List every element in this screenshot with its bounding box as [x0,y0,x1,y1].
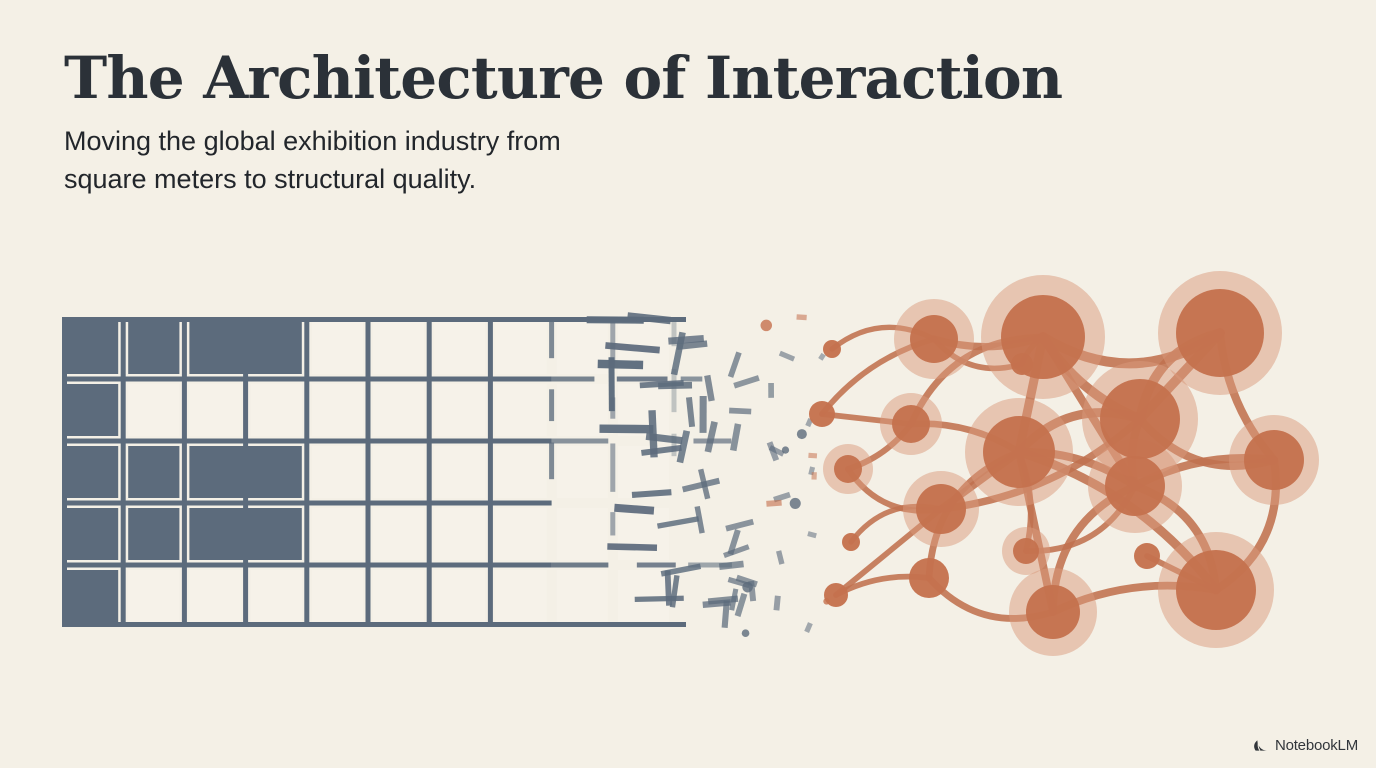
network-edge [929,578,1053,618]
debris-fragment [728,577,750,588]
network-node-halo [880,393,942,455]
network-edge [1140,419,1274,466]
debris-fragment [668,335,704,345]
network-node-halo [1229,415,1319,505]
debris-speck [761,320,773,332]
grid-line-horizontal-fragment [693,439,731,444]
network-node-halo [903,471,979,547]
grid-line-vertical [243,317,248,627]
debris-fragment [671,332,686,376]
debris-fragment [722,601,730,628]
debris-fragment [661,563,701,576]
grid-cell-empty [618,322,669,374]
page-subtitle: Moving the global exhibition industry fr… [64,123,824,198]
debris-fragment [698,469,710,500]
debris-fragment [805,418,813,427]
network-node-halo [1088,439,1182,533]
network-edge [1019,337,1043,452]
grid-cell-empty [251,384,302,436]
network-edge [911,337,1043,424]
network-node [892,405,930,443]
grid-cell-empty [373,384,424,436]
debris-fragment [657,516,699,529]
debris-fragment [670,575,680,608]
debris-fragment [733,375,760,388]
debris-fragment [818,353,826,361]
debris-fragment [702,599,731,608]
network-edge [1019,452,1053,612]
grid-cell-empty [434,446,485,498]
network-node [834,455,862,483]
debris-fragment [677,340,708,350]
grid-line-vertical-fragment [610,512,615,535]
network-node [1011,353,1033,375]
network-node [1001,295,1085,379]
grid-cell-empty [373,446,424,498]
header-block: The Architecture of Interaction Moving t… [64,48,1184,198]
network-edge [934,339,1022,368]
grid-cell-empty [557,570,608,622]
network-node-halo [1002,527,1050,575]
network-nodes [809,289,1304,639]
grid-cell-filled [67,446,118,498]
grid-cell-filled [67,322,118,374]
network-edge [911,424,1019,452]
debris-fragment [729,588,738,610]
grid-line-vertical-fragment [610,397,615,418]
grid-cell-empty [312,322,363,374]
network-edge [1043,337,1135,486]
debris-fragment [804,622,813,633]
grid-cell-empty [434,384,485,436]
grid-line-vertical-fragment [672,434,677,456]
grid-line-horizontal-fragment [552,377,595,382]
debris-fragment [705,421,718,453]
debris-speck [790,498,801,509]
debris-fragment [640,380,684,388]
grid-cell-empty [312,508,363,560]
grid-line-horizontal [62,501,552,506]
grid-frame-left [62,317,67,627]
grid-cell-filled [189,508,301,560]
debris-fragment [599,424,653,433]
grid-line-vertical-fragment [672,321,677,346]
network-node-halo [1009,568,1097,656]
debris-fragment [719,561,744,570]
network-node [1100,379,1180,459]
network-edge [1043,337,1140,419]
debris-fragment [686,397,695,427]
grid-cell-empty [128,384,179,436]
debris-fragment [632,489,672,498]
network-edge [1140,333,1220,419]
grid-line-horizontal-fragment [688,563,732,568]
network-edge [822,339,934,414]
debris-fragment [695,506,705,534]
debris-fragment [658,382,692,389]
network-node-halos [823,271,1319,656]
grid-cell-empty [495,384,546,436]
network-node-halo [1158,271,1282,395]
network-edge [1135,486,1216,590]
network-edge [941,452,1019,509]
debris-fragment [682,478,720,493]
debris-fragment [766,500,782,507]
network-node [824,583,848,607]
debris-fragment [704,375,715,402]
debris-fragment [723,544,750,558]
grid-frame-bottom [62,622,686,627]
grid-line-vertical-fragment [549,389,554,421]
network-node-halo [823,444,873,494]
network-edge [929,452,1019,578]
grid-cell-empty [189,570,240,622]
debris-fragment [635,596,684,602]
network-edge [836,509,941,595]
network-edge [1135,458,1274,486]
debris-fragment [648,410,657,457]
grid-line-horizontal-fragment [617,377,668,382]
debris-fragment [773,492,791,503]
network-edge [1026,486,1135,551]
network-node [823,340,841,358]
grid-line-horizontal-fragment [637,563,676,568]
debris-fragment [708,596,738,605]
notebooklm-spiral-icon [1252,737,1269,754]
grid-line-horizontal-fragment [552,563,609,568]
grid-cell-empty [312,384,363,436]
grid-cell-filled [128,322,179,374]
grid-cell-empty [495,322,546,374]
network-edge [1220,333,1274,460]
debris-fragment [730,423,741,451]
grid-cell-empty [557,384,608,436]
network-edge [1216,460,1276,590]
network-node [1026,585,1080,639]
grid-line-vertical-fragment [672,369,677,412]
network-node [983,416,1055,488]
grid-cell-filled [67,384,118,436]
debris-fragment [665,570,672,606]
grid-disintegration-debris [587,312,830,637]
network-node [910,315,958,363]
network-edge [934,337,1043,347]
network-node [1176,289,1264,377]
grid-line-vertical-fragment [610,443,615,491]
debris-speck [823,598,830,605]
slide-canvas: The Architecture of Interaction Moving t… [0,0,1376,768]
debris-fragment [769,445,785,456]
debris-fragment [767,441,779,461]
network-node [1134,543,1160,569]
debris-fragment [587,316,644,323]
debris-fragment [811,472,816,480]
network-node [1105,456,1165,516]
grid-line-vertical-fragment [610,321,615,367]
debris-fragment [627,312,671,324]
debris-fragment [748,581,756,602]
grid-line-horizontal [62,439,552,444]
network-edge [1019,452,1135,486]
debris-speck [782,446,789,453]
network-edge [1019,452,1216,590]
network-node [916,484,966,534]
network-edge [848,469,941,511]
network-node [842,533,860,551]
brand-footer: NotebookLM [1252,737,1358,754]
grid-line-horizontal [62,563,552,568]
debris-fragment [779,351,795,362]
grid-cell-empty [495,446,546,498]
grid-line-vertical-fragment [549,321,554,358]
grid-frame-top [62,317,686,322]
debris-fragment [607,543,657,551]
grid-cell-empty [495,508,546,560]
network-edge [1053,586,1216,612]
network-edge [1147,556,1216,590]
debris-fragment [776,550,784,565]
debris-speck [742,629,750,637]
debris-fragment [768,383,774,398]
network-node [809,401,835,427]
network-node-halo [1158,532,1274,648]
debris-fragment [727,529,740,555]
debris-fragment [728,352,742,378]
grid-line-vertical [366,317,371,627]
network-edge [836,577,929,595]
grid-cell-empty [557,322,608,374]
grid-cell-empty [434,508,485,560]
grid-line-horizontal-fragment [552,439,609,444]
network-node [1013,538,1039,564]
grid-line-vertical [488,317,493,627]
grid-line-vertical-fragment [549,443,554,480]
grid-cell-empty [495,570,546,622]
network-node-halo [981,275,1105,399]
grid-cell-empty [189,384,240,436]
network-edge [1019,413,1140,452]
network-edge [822,414,911,424]
network-edge [832,327,934,349]
grid-cell-filled [189,446,301,498]
grid-cell-empty [373,508,424,560]
grid-line-vertical [121,317,126,627]
grid-line-vertical [304,317,309,627]
grid-line-horizontal-fragment [681,377,703,382]
grid-cell-empty [618,446,669,498]
grid-cell-empty [312,446,363,498]
debris-fragment [729,408,751,415]
grid-line-vertical [427,317,432,627]
debris-fragment [598,360,644,370]
network-edge [1022,337,1043,364]
debris-fragment [700,396,707,433]
debris-fragment [646,433,683,444]
debris-speck [742,582,753,593]
grid-cell-filled [189,322,301,374]
debris-fragment [609,357,615,411]
grid-cell-empty [434,322,485,374]
network-node [1244,430,1304,490]
network-edge [1132,419,1140,486]
network-edge [1019,452,1031,551]
network-edge [941,419,1140,509]
grid-cell-empty [434,570,485,622]
debris-fragment [677,430,690,463]
debris-fragment [641,445,682,456]
debris-fragment [807,531,817,538]
grid-cell-empty [557,508,608,560]
network-edge [851,506,941,542]
debris-fragment [808,466,815,475]
grid-cell-filled [128,508,179,560]
page-title: The Architecture of Interaction [64,48,1184,109]
debris-fragment [808,453,817,459]
grid-cell-empty [373,322,424,374]
grid-cell-empty [251,570,302,622]
network-edge [1053,486,1135,612]
brand-label: NotebookLM [1275,737,1358,754]
debris-fragment [605,342,660,353]
grid-line-horizontal [62,377,552,382]
grid-cell-empty [373,570,424,622]
grid-cell-empty [618,508,669,560]
grid-cell-empty [618,384,669,436]
network-node [1176,550,1256,630]
debris-fragment [725,519,754,532]
grid-cell-filled [67,508,118,560]
grid-cell-empty [128,570,179,622]
debris-speck [797,429,807,439]
grid-cell-empty [557,446,608,498]
booth-grid [62,317,732,627]
network-node-halo [894,299,974,379]
debris-fragment [735,593,748,617]
grid-line-vertical [182,317,187,627]
network-node-halo [965,398,1073,506]
network-edge [1043,333,1220,363]
grid-cell-filled [128,446,179,498]
network-edge [848,424,911,469]
debris-fragment [774,596,781,611]
grid-cell-filled [67,570,118,622]
network-node [909,558,949,598]
network-edges [822,327,1276,618]
debris-fragment [614,504,654,515]
network-node-halo [1082,361,1198,477]
debris-fragment [796,314,806,320]
grid-cell-empty [312,570,363,622]
network-edge [1140,333,1220,419]
grid-cell-empty [618,570,669,622]
debris-fragment [736,575,758,588]
